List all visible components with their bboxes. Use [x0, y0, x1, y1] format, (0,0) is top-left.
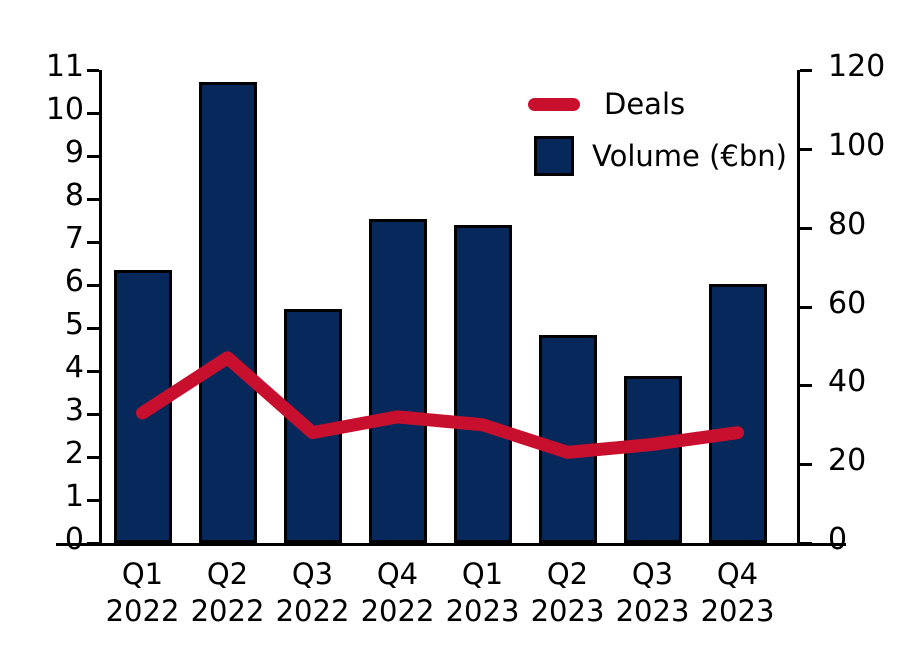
left-axis-tick	[87, 327, 99, 330]
chart-legend: Deals Volume (€bn)	[528, 78, 778, 182]
left-axis-tick-label: 11	[46, 52, 84, 82]
x-axis-label: Q32022	[270, 556, 355, 630]
x-axis-label: Q22022	[185, 556, 270, 630]
bar-q1-2022[interactable]	[114, 270, 172, 543]
x-axis-label: Q42022	[355, 556, 440, 630]
legend-square-marker-icon	[534, 136, 574, 176]
x-axis-label-quarter: Q2	[525, 556, 610, 593]
left-axis-tick	[87, 155, 99, 158]
x-axis-label-year: 2023	[610, 593, 695, 630]
left-axis-tick-label: 8	[65, 181, 84, 211]
right-axis-tick-label: 80	[828, 210, 866, 240]
x-axis-label-quarter: Q4	[355, 556, 440, 593]
left-axis-tick	[87, 69, 99, 72]
left-axis-tick	[87, 241, 99, 244]
x-axis-label: Q32023	[610, 556, 695, 630]
bar-q4-2023[interactable]	[709, 284, 767, 543]
left-axis-tick-label: 5	[65, 310, 84, 340]
left-axis-tick	[87, 499, 99, 502]
right-axis-tick	[800, 384, 812, 387]
chart-container: 01234567891011 020406080100120 Q12022Q22…	[0, 0, 916, 646]
legend-item-deals[interactable]: Deals	[528, 78, 778, 130]
left-axis-tick-label: 0	[65, 525, 84, 555]
x-axis-label: Q12023	[440, 556, 525, 630]
x-axis-label-quarter: Q4	[695, 556, 780, 593]
x-axis-spine	[56, 543, 846, 546]
left-axis-tick-label: 7	[65, 224, 84, 254]
right-axis-tick-label: 60	[828, 289, 866, 319]
bar-q4-2022[interactable]	[369, 219, 427, 543]
left-axis-tick	[87, 112, 99, 115]
x-axis-label-quarter: Q3	[270, 556, 355, 593]
x-axis-label-year: 2023	[695, 593, 780, 630]
bar-q3-2022[interactable]	[284, 309, 342, 543]
left-axis-tick-label: 2	[65, 439, 84, 469]
right-axis-tick-label: 40	[828, 367, 866, 397]
left-axis-tick	[87, 456, 99, 459]
x-axis-label-year: 2022	[185, 593, 270, 630]
x-axis-label-quarter: Q1	[100, 556, 185, 593]
right-axis-tick	[800, 463, 812, 466]
x-axis-label-year: 2023	[525, 593, 610, 630]
left-axis-tick	[87, 198, 99, 201]
left-axis-tick-label: 10	[46, 95, 84, 125]
legend-label-volume: Volume (€bn)	[592, 139, 787, 173]
bar-q3-2023[interactable]	[624, 376, 682, 543]
bar-q2-2022[interactable]	[199, 82, 257, 543]
right-axis-tick-label: 0	[828, 525, 847, 555]
x-axis-label: Q42023	[695, 556, 780, 630]
legend-item-volume[interactable]: Volume (€bn)	[528, 130, 778, 182]
x-axis-label-quarter: Q2	[185, 556, 270, 593]
x-axis-label-year: 2022	[100, 593, 185, 630]
x-axis-label: Q22023	[525, 556, 610, 630]
x-axis-label: Q12022	[100, 556, 185, 630]
left-axis-tick	[87, 284, 99, 287]
left-axis-tick	[87, 542, 99, 545]
right-axis-tick	[800, 227, 812, 230]
bar-q2-2023[interactable]	[539, 335, 597, 543]
x-axis-label-year: 2022	[355, 593, 440, 630]
x-axis-label-quarter: Q1	[440, 556, 525, 593]
right-axis-tick	[800, 69, 812, 72]
left-axis-tick-label: 9	[65, 138, 84, 168]
right-axis-tick-label: 20	[828, 446, 866, 476]
left-axis-tick-label: 1	[65, 482, 84, 512]
left-axis-tick-label: 3	[65, 396, 84, 426]
left-axis-tick-label: 6	[65, 267, 84, 297]
bar-q1-2023[interactable]	[454, 225, 512, 543]
right-axis-tick	[800, 148, 812, 151]
legend-line-marker-icon	[528, 98, 580, 111]
x-axis-label-year: 2022	[270, 593, 355, 630]
right-axis-tick	[800, 306, 812, 309]
right-axis-tick-label: 100	[828, 131, 885, 161]
x-axis-label-quarter: Q3	[610, 556, 695, 593]
legend-label-deals: Deals	[604, 87, 685, 121]
right-axis-tick	[800, 542, 812, 545]
left-axis-tick	[87, 413, 99, 416]
x-axis-label-year: 2023	[440, 593, 525, 630]
left-axis-tick	[87, 370, 99, 373]
right-axis-tick-label: 120	[828, 52, 885, 82]
left-axis-tick-label: 4	[65, 353, 84, 383]
